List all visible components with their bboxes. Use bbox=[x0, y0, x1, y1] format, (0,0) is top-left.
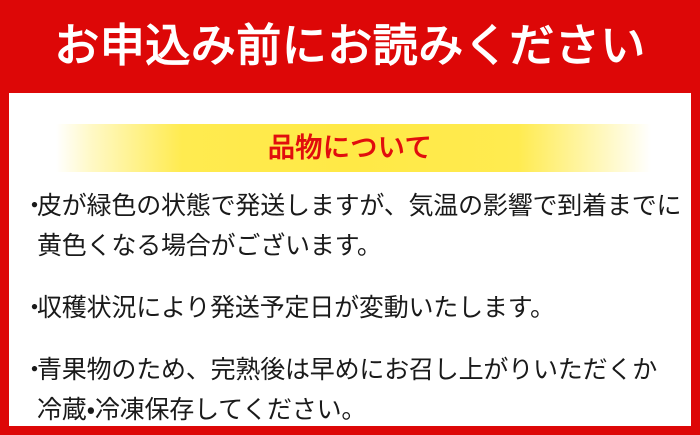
notice-line: 皮が緑色の状態で発送しますが、気温の影響で到着までに bbox=[37, 186, 681, 226]
bullet-icon: ・ bbox=[22, 186, 37, 226]
list-item: ・ 皮が緑色の状態で発送しますが、気温の影響で到着までに 黄色くなる場合がござい… bbox=[22, 186, 678, 266]
list-item: ・ 青果物のため、完熟後は早めにお召し上がりいただくか 冷蔵・冷凍保存してくださ… bbox=[22, 350, 678, 430]
list-item-text: 皮が緑色の状態で発送しますが、気温の影響で到着までに 黄色くなる場合がございます… bbox=[37, 186, 681, 266]
notice-list: ・ 皮が緑色の状態で発送しますが、気温の影響で到着までに 黄色くなる場合がござい… bbox=[22, 186, 678, 430]
header-banner: お申込み前にお読みください bbox=[0, 0, 700, 93]
notice-line: 青果物のため、完熟後は早めにお召し上がりいただくか bbox=[37, 350, 678, 390]
list-item: ・ 収穫状況により発送予定日が変動いたします。 bbox=[22, 288, 678, 328]
subtitle-highlight-band: 品物について bbox=[0, 124, 700, 172]
bullet-icon: ・ bbox=[22, 350, 37, 390]
bullet-icon: ・ bbox=[22, 288, 37, 328]
page-title: お申込み前にお読みください bbox=[54, 23, 646, 68]
list-item-text: 収穫状況により発送予定日が変動いたします。 bbox=[37, 288, 678, 328]
notice-line: 冷蔵・冷凍保存してください。 bbox=[37, 390, 678, 430]
section-heading: 品物について bbox=[268, 135, 432, 162]
notice-line: 収穫状況により発送予定日が変動いたします。 bbox=[37, 288, 678, 328]
notice-line: 黄色くなる場合がございます。 bbox=[37, 226, 681, 266]
notice-card: お申込み前にお読みください 品物について ・ 皮が緑色の状態で発送しますが、気温… bbox=[0, 0, 700, 435]
list-item-text: 青果物のため、完熟後は早めにお召し上がりいただくか 冷蔵・冷凍保存してください。 bbox=[37, 350, 678, 430]
